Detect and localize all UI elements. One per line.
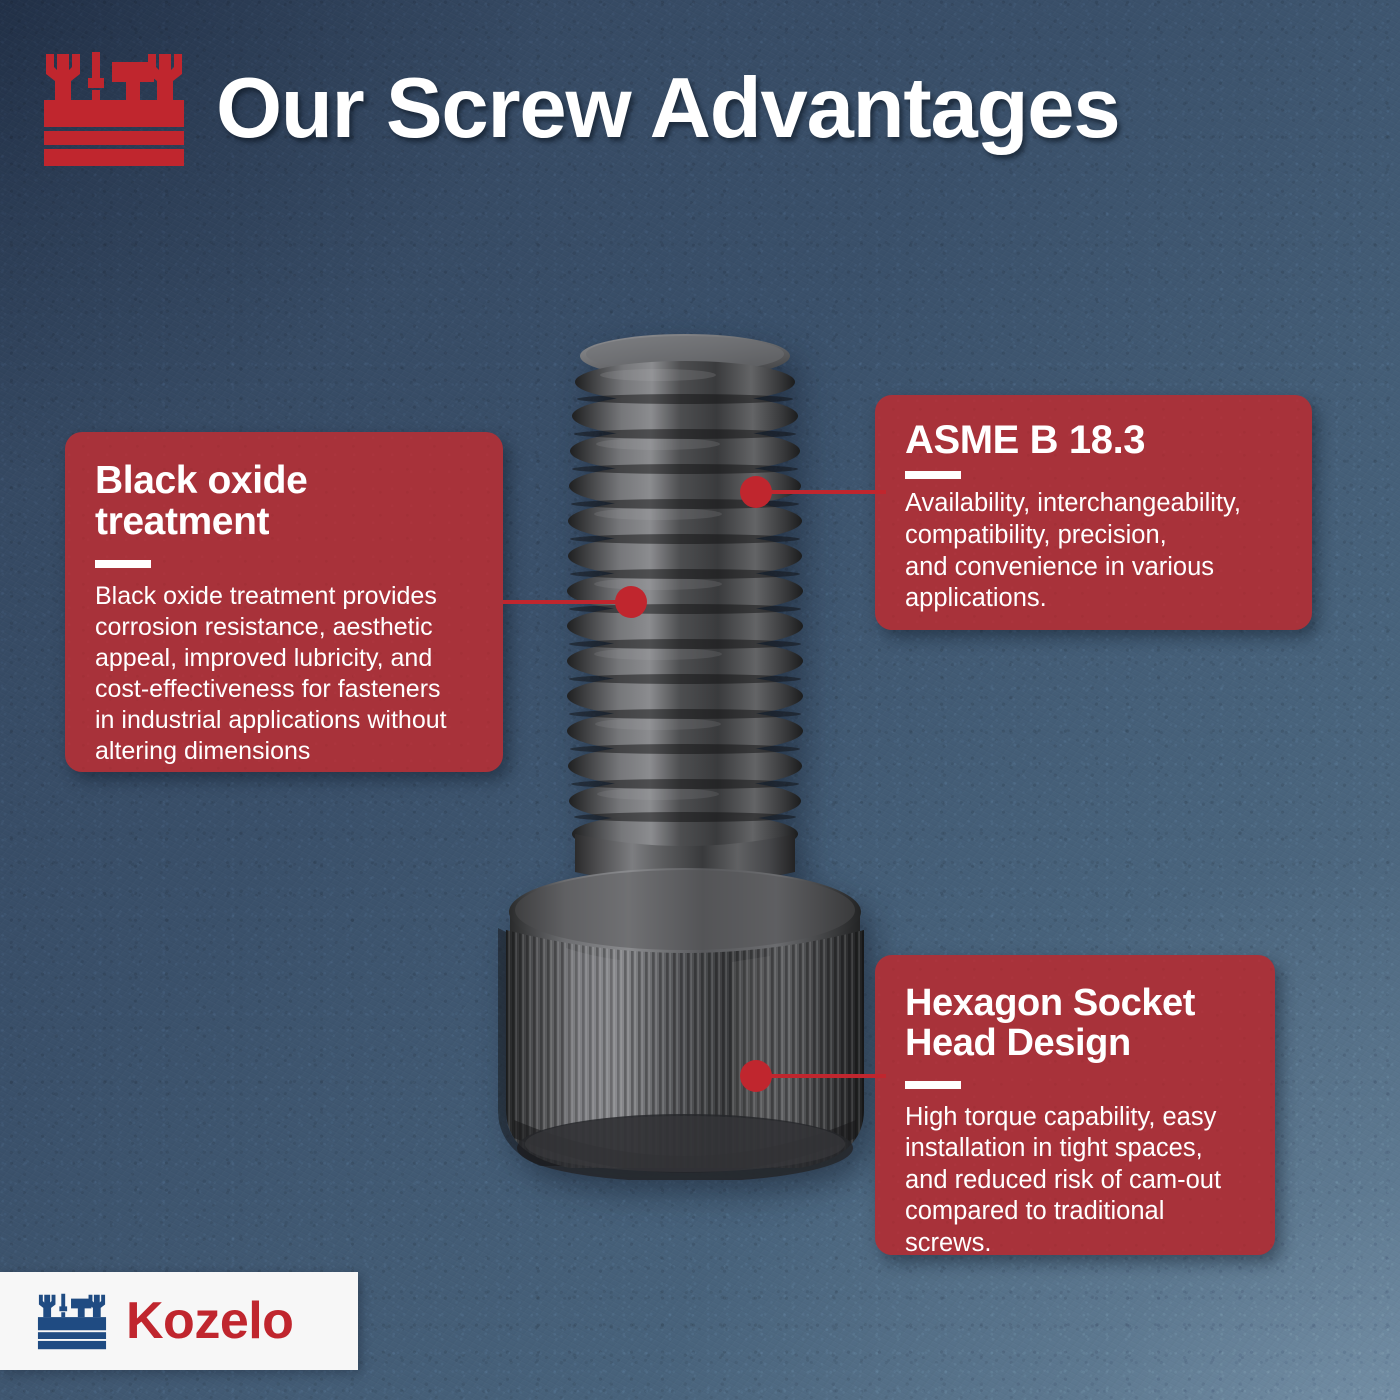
callout-card-black-oxide: Black oxide treatment Black oxide treatm… xyxy=(65,432,503,772)
socket-head-cap-screw-illustration xyxy=(470,320,900,1180)
connector-dot xyxy=(615,586,647,618)
infographic-canvas: Our Screw Advantages xyxy=(0,0,1400,1400)
card-title: Hexagon Socket Head Design xyxy=(905,983,1245,1064)
connector-hexagon-socket xyxy=(740,1066,886,1086)
card-title: ASME B 18.3 xyxy=(905,419,1282,461)
card-divider xyxy=(905,471,961,479)
header: Our Screw Advantages xyxy=(40,48,1360,168)
card-title: Black oxide treatment xyxy=(95,460,473,543)
card-body: Black oxide treatment provides corrosion… xyxy=(95,581,473,767)
connector-asme xyxy=(740,482,886,502)
connector-line xyxy=(758,490,886,494)
callout-card-hexagon-socket: Hexagon Socket Head Design High torque c… xyxy=(875,955,1275,1255)
card-body: Availability, interchangeability, compat… xyxy=(905,488,1282,614)
callout-card-asme: ASME B 18.3 Availability, interchangeabi… xyxy=(875,395,1312,630)
connector-line xyxy=(503,600,629,604)
brand-name: Kozelo xyxy=(126,1295,293,1347)
product-image xyxy=(470,320,900,1180)
card-divider xyxy=(905,1081,961,1089)
connector-line xyxy=(758,1074,886,1078)
card-body: High torque capability, easy installatio… xyxy=(905,1102,1245,1260)
card-divider xyxy=(95,560,151,568)
brand-logo-panel: Kozelo xyxy=(0,1272,358,1370)
toolbox-icon xyxy=(36,1291,108,1351)
toolbox-icon xyxy=(40,48,188,168)
page-title: Our Screw Advantages xyxy=(216,66,1119,151)
connector-black-oxide xyxy=(503,592,649,612)
